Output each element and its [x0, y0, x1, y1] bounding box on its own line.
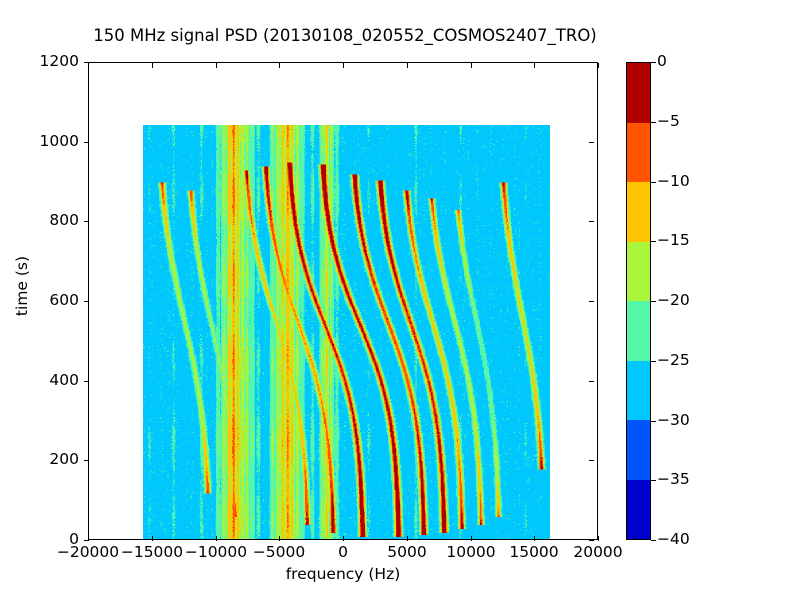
colorbar-tick-label: −20: [657, 293, 690, 309]
y-tick-mark: [84, 460, 89, 461]
y-tick-mark-right: [589, 460, 594, 461]
x-tick-label: −5000: [253, 545, 305, 561]
colorbar-tick-label: −40: [657, 532, 690, 548]
x-tick-label: 5000: [387, 545, 426, 561]
colorbar-tick-label: −30: [657, 413, 690, 429]
x-tick-mark: [216, 536, 217, 541]
y-axis-label: time (s): [13, 206, 31, 366]
colorbar-tick-label: −15: [657, 233, 690, 249]
colorbar-tick-label: −5: [657, 114, 680, 130]
x-axis-label: frequency (Hz): [88, 565, 598, 583]
colorbar[interactable]: [626, 62, 651, 540]
colorbar-tick-mark: [651, 62, 656, 63]
x-tick-label: −15000: [121, 545, 183, 561]
y-tick-label: 400: [49, 373, 79, 389]
colorbar-tick-mark: [651, 301, 656, 302]
x-tick-label: 20000: [573, 545, 622, 561]
colorbar-tick-mark: [651, 241, 656, 242]
y-tick-mark-right: [589, 381, 594, 382]
x-tick-mark: [598, 536, 599, 541]
spectrogram-image: [143, 125, 550, 540]
colorbar-band: [627, 63, 650, 123]
colorbar-band: [627, 182, 650, 242]
y-tick-label: 600: [49, 293, 79, 309]
colorbar-band: [627, 301, 650, 361]
x-tick-mark-top: [152, 63, 153, 68]
figure-canvas: 150 MHz signal PSD (20130108_020552_COSM…: [0, 0, 800, 600]
colorbar-tick-mark: [651, 480, 656, 481]
x-tick-mark-top: [598, 63, 599, 68]
y-tick-label: 1000: [40, 134, 79, 150]
x-tick-mark-top: [343, 63, 344, 68]
colorbar-tick-label: −35: [657, 472, 690, 488]
x-tick-label: 15000: [509, 545, 558, 561]
x-tick-mark-top: [88, 63, 89, 68]
colorbar-tick-mark: [651, 122, 656, 123]
x-tick-mark-top: [407, 63, 408, 68]
y-tick-label: 200: [49, 452, 79, 468]
y-tick-mark-right: [589, 142, 594, 143]
page-title: 150 MHz signal PSD (20130108_020552_COSM…: [0, 26, 690, 45]
x-tick-mark: [88, 536, 89, 541]
colorbar-band: [627, 420, 650, 480]
x-tick-mark-top: [216, 63, 217, 68]
y-tick-mark: [84, 381, 89, 382]
x-tick-mark: [343, 536, 344, 541]
colorbar-tick-label: −25: [657, 353, 690, 369]
colorbar-tick-label: −10: [657, 174, 690, 190]
x-tick-label: 0: [338, 545, 348, 561]
colorbar-band: [627, 242, 650, 302]
y-tick-mark-right: [589, 62, 594, 63]
y-tick-mark: [84, 301, 89, 302]
y-tick-mark: [84, 142, 89, 143]
y-tick-mark-right: [589, 540, 594, 541]
y-tick-mark: [84, 221, 89, 222]
y-tick-mark-right: [589, 301, 594, 302]
x-tick-mark: [279, 536, 280, 541]
colorbar-tick-mark: [651, 421, 656, 422]
y-tick-label: 1200: [40, 54, 79, 70]
x-tick-mark: [407, 536, 408, 541]
colorbar-band: [627, 361, 650, 421]
plot-axes[interactable]: [88, 62, 598, 540]
x-tick-mark-top: [471, 63, 472, 68]
x-tick-mark-top: [279, 63, 280, 68]
colorbar-tick-mark: [651, 540, 656, 541]
y-tick-mark-right: [589, 221, 594, 222]
colorbar-band: [627, 480, 650, 540]
x-tick-mark: [152, 536, 153, 541]
colorbar-tick-mark: [651, 182, 656, 183]
x-tick-label: 10000: [446, 545, 495, 561]
y-tick-label: 800: [49, 213, 79, 229]
x-tick-label: −10000: [185, 545, 247, 561]
x-tick-mark: [471, 536, 472, 541]
x-tick-mark-top: [534, 63, 535, 68]
colorbar-tick-mark: [651, 361, 656, 362]
x-tick-label: −20000: [57, 545, 119, 561]
x-tick-mark: [534, 536, 535, 541]
colorbar-band: [627, 123, 650, 183]
colorbar-tick-label: 0: [657, 54, 667, 70]
